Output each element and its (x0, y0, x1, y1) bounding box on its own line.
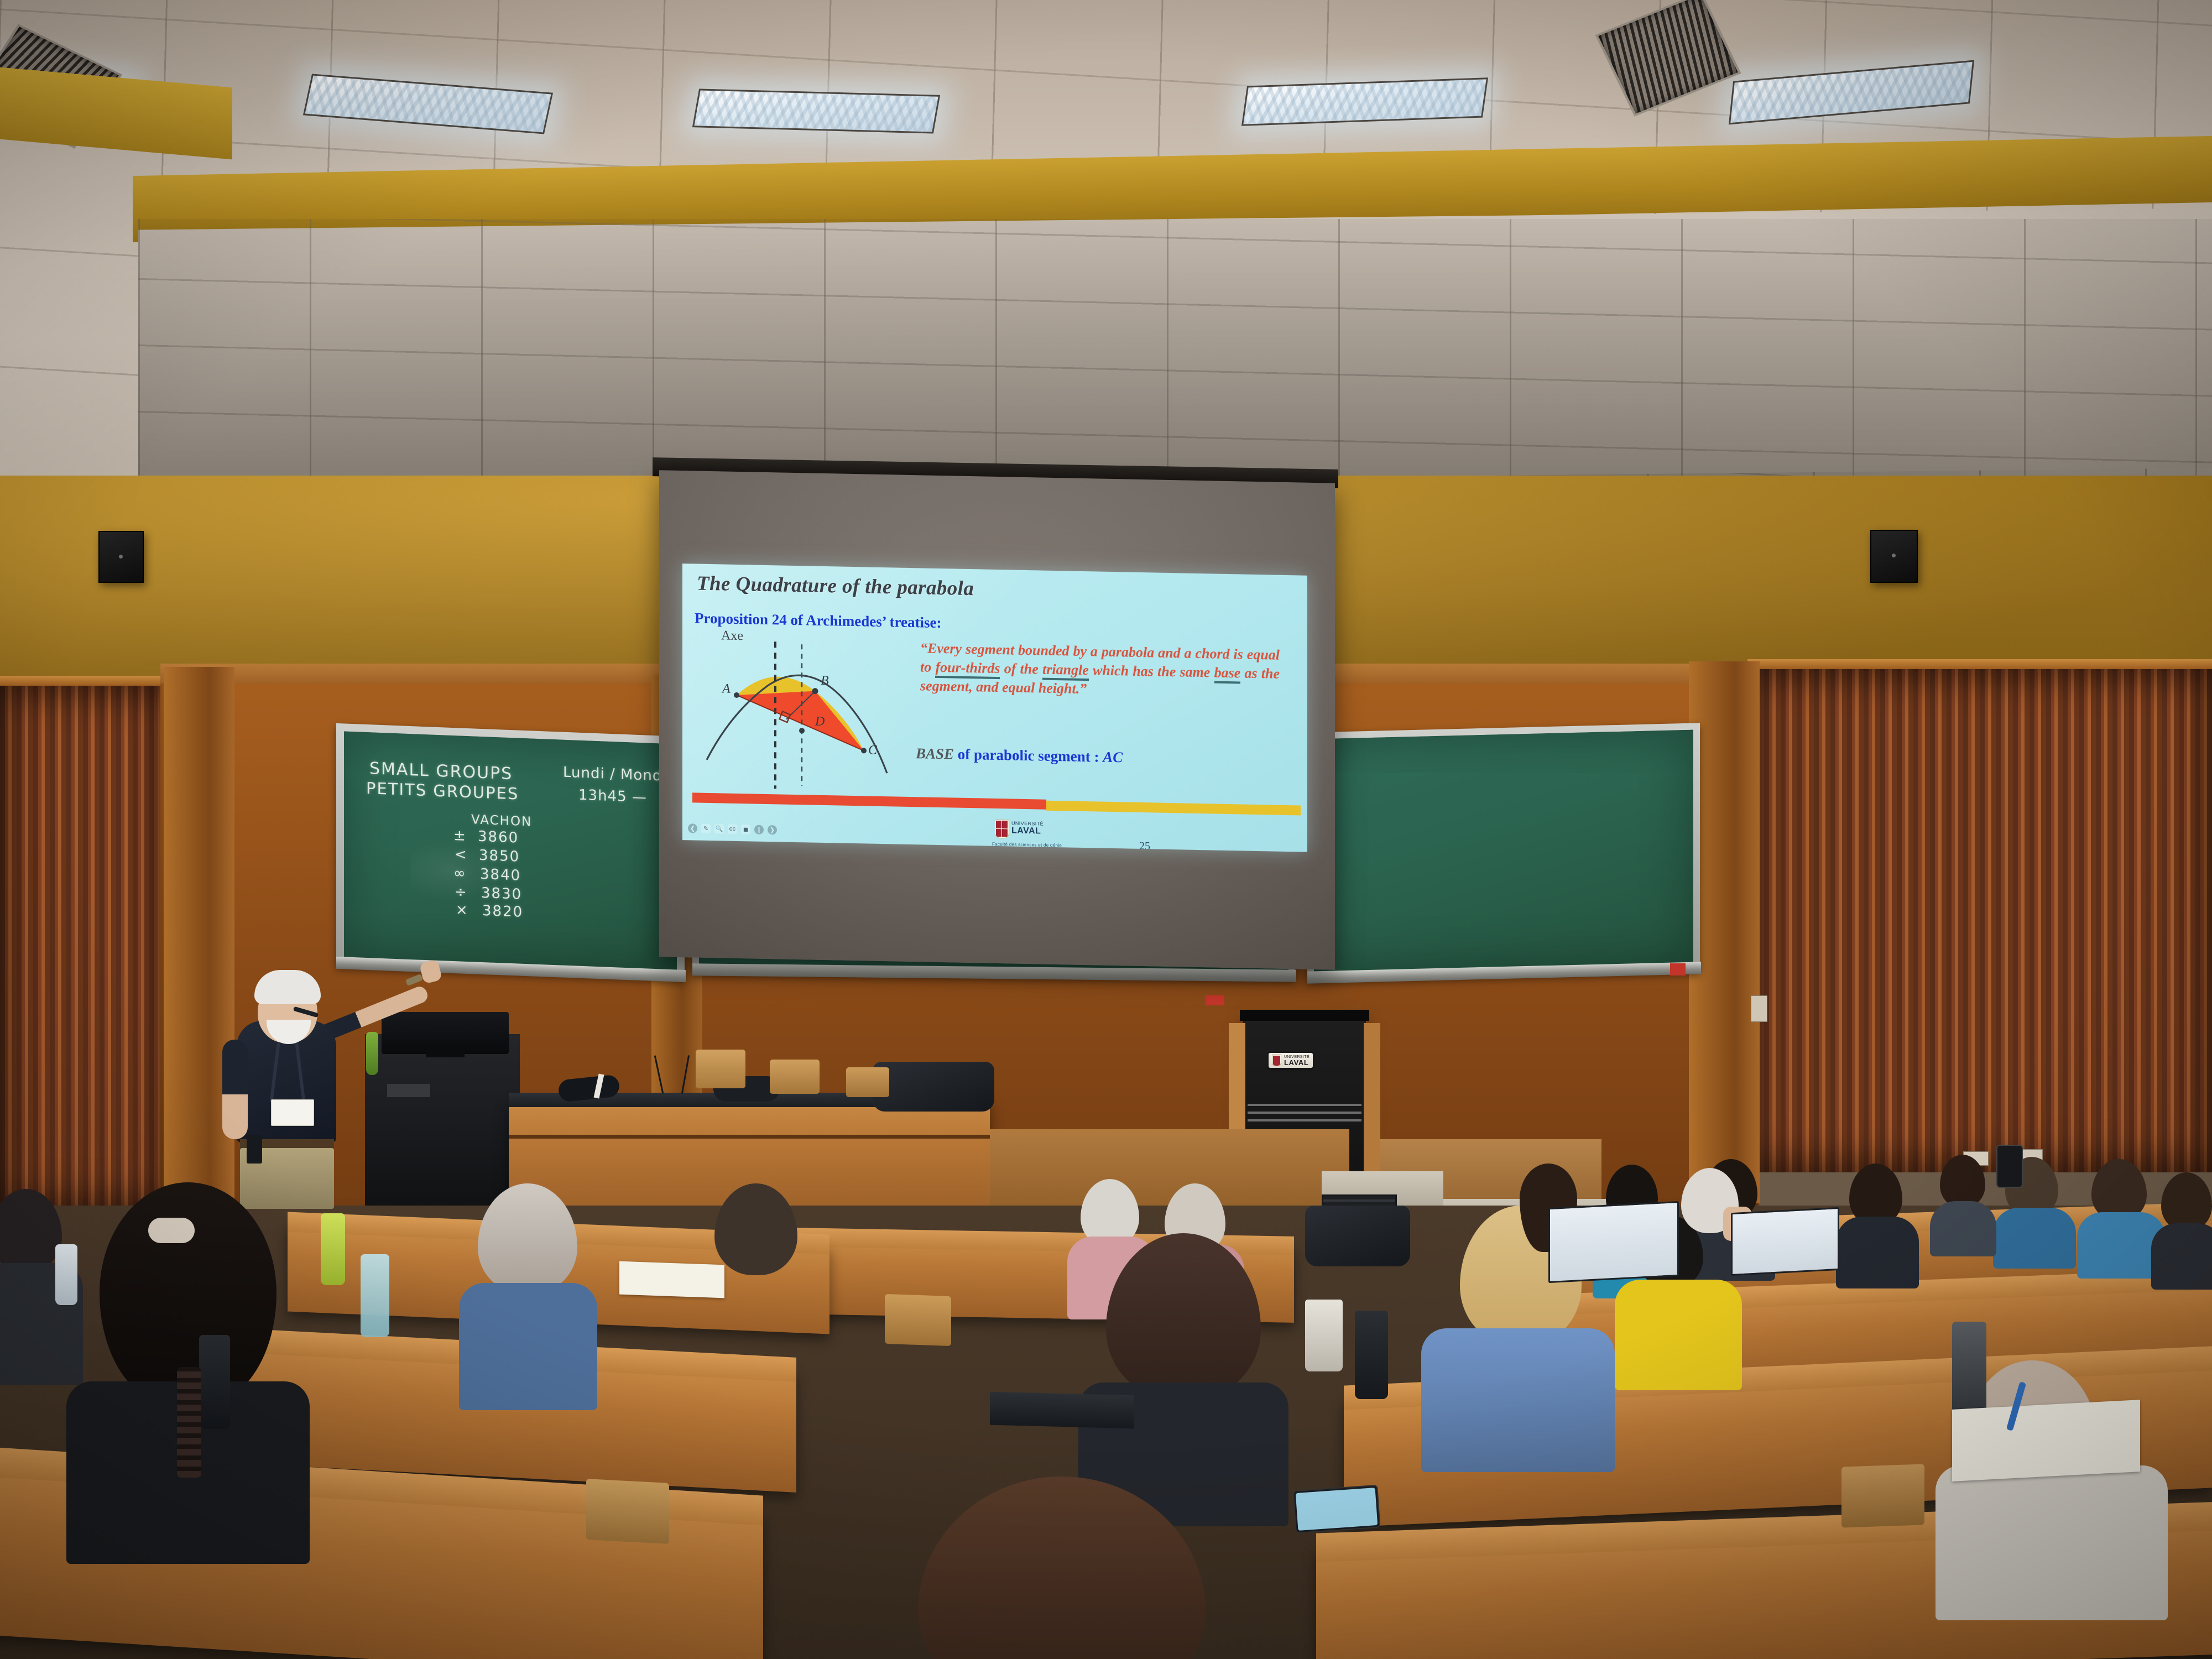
parabola-svg (698, 629, 919, 800)
projection-screen[interactable]: The Quadrature of the parabola Propositi… (659, 470, 1335, 969)
pause-icon[interactable]: ❙ (754, 825, 764, 834)
pdf-toolbar[interactable]: ❮ ✎ 🔍 CC ◼ ❙ ❯ (688, 823, 777, 834)
person-body (1930, 1201, 1996, 1256)
person-body (459, 1283, 597, 1410)
universite-laval-logo: UNIVERSITÉ LAVAL (995, 820, 1024, 843)
lectern-trim (1248, 1112, 1361, 1114)
blackboard-row-symbol: ∞ (453, 865, 467, 882)
person-body (2151, 1223, 2212, 1290)
quote-underline-four-thirds: four-thirds (935, 659, 1000, 679)
av-monitor-stand (426, 1050, 465, 1057)
front-ceiling-shade (138, 219, 2212, 479)
person-head (0, 1189, 62, 1272)
blackboard-row-symbol: × (456, 901, 469, 919)
parabola-diagram: Axe (698, 629, 919, 800)
wall-speaker-right (1870, 530, 1918, 583)
book-stack[interactable] (990, 1392, 1134, 1429)
lectern-trim (1248, 1104, 1361, 1106)
board-emergency-marker (1670, 963, 1686, 975)
blackboard-row-symbol: ÷ (455, 884, 468, 901)
quote-part-3: which has the same (1089, 662, 1214, 680)
base-keyword: BASE (916, 745, 954, 762)
base-value: AC (1103, 749, 1123, 766)
plaque-line2: LAVAL (1284, 1059, 1310, 1066)
backpack[interactable] (1305, 1206, 1410, 1266)
water-bottle[interactable] (361, 1254, 389, 1337)
board-red-marker (1206, 995, 1224, 1005)
diagram-point-C: C (868, 743, 877, 758)
blackboard-time-line: 13h45 — (578, 787, 647, 806)
video-icon[interactable]: ◼ (741, 825, 750, 834)
chair-backrest[interactable] (1841, 1464, 1924, 1527)
diagram-point-D: D (815, 714, 825, 729)
blackboard-row-room: 3850 (479, 847, 520, 865)
audience-member-gray-hair (459, 1183, 597, 1383)
chair-backrest[interactable] (846, 1067, 889, 1097)
pen-icon[interactable]: ✎ (701, 824, 711, 833)
front-desk-edge (509, 1135, 990, 1139)
presenter-name-badge (271, 1099, 314, 1126)
audience-member (1930, 1155, 1996, 1243)
blackboard-row-room: 3830 (481, 885, 522, 903)
chalkboard-left[interactable]: SMALL GROUPS PETITS GROUPES VACHON ± 386… (344, 731, 677, 972)
water-bottle[interactable] (55, 1244, 77, 1305)
back-arrow-icon[interactable]: ❮ (688, 823, 697, 833)
magnifier-icon[interactable]: 🔍 (714, 824, 724, 833)
audience-member (1836, 1164, 1919, 1274)
travel-mug[interactable] (1305, 1300, 1343, 1371)
person-head (2161, 1172, 2212, 1231)
phone-camera-raised[interactable] (1996, 1145, 2023, 1188)
backpack-on-front-desk[interactable] (873, 1062, 994, 1112)
presenter-transmitter (247, 1135, 262, 1164)
slat-wall-cap-left (0, 676, 166, 686)
presenter-hair (254, 970, 321, 1004)
person-body (1836, 1217, 1919, 1288)
audience-member-foreground-near (896, 1477, 1228, 1659)
water-bottle[interactable] (1355, 1311, 1388, 1399)
diagram-point-A: A (722, 681, 731, 696)
diagram-axis-label: Axe (721, 628, 743, 644)
water-bottle[interactable] (1952, 1322, 1986, 1416)
audience-member-foreground (1078, 1233, 1288, 1493)
acoustic-slat-wall-right (1747, 664, 2212, 1172)
slat-wall-cap-right (1747, 659, 2212, 669)
laval-wordmark: UNIVERSITÉ LAVAL (1011, 821, 1044, 836)
base-rest: of parabolic segment : (954, 746, 1103, 765)
lecture-hall-photo: SMALL GROUPS PETITS GROUPES VACHON ± 386… (0, 0, 2212, 1659)
bottle-strap (177, 1367, 201, 1478)
quote-underline-triangle: triangle (1042, 661, 1089, 681)
smartphone[interactable] (1292, 1485, 1380, 1534)
wall-speaker-left (98, 531, 144, 583)
laptop[interactable] (1731, 1207, 1839, 1276)
person-head (1940, 1155, 1985, 1208)
blackboard-row-symbol: ± (453, 827, 467, 844)
blackboard-building: VACHON (471, 812, 532, 829)
chair-backrest[interactable] (586, 1479, 669, 1544)
lectern-plaque: UNIVERSITÉ LAVAL (1269, 1053, 1313, 1068)
lectern-top (1240, 1010, 1369, 1021)
hair-tie (148, 1218, 195, 1243)
closed-caption-icon[interactable]: CC (728, 825, 737, 834)
acoustic-slat-wall-left (0, 680, 166, 1211)
person-body (1936, 1465, 2168, 1620)
chair-backrest[interactable] (885, 1294, 951, 1346)
water-bottle[interactable] (199, 1335, 230, 1429)
chair-backrest[interactable] (770, 1060, 820, 1094)
notebook[interactable] (619, 1261, 724, 1298)
lectern-wordmark: UNIVERSITÉ LAVAL (1284, 1055, 1310, 1066)
blackboard-row-room: 3840 (480, 866, 521, 884)
blackboard-row-room: 3820 (482, 902, 523, 921)
person-head (478, 1183, 577, 1294)
audience-member (2151, 1172, 2212, 1272)
notebook[interactable] (1952, 1400, 2140, 1481)
laval-crest-icon (995, 820, 1009, 838)
presenter-arm-left (222, 1040, 248, 1139)
projected-slide: The Quadrature of the parabola Propositi… (682, 564, 1307, 852)
person-head (1106, 1233, 1261, 1399)
audience-member-dark-hair (66, 1182, 310, 1536)
slide-quote: “Every segment bounded by a parabola and… (920, 639, 1280, 702)
person-body (1993, 1208, 2076, 1269)
blackboard-row-room: 3860 (478, 828, 519, 847)
person-body (1421, 1328, 1615, 1472)
wall-outlet-plate[interactable] (1751, 995, 1767, 1022)
person-head (918, 1477, 1206, 1659)
laval-line2: LAVAL (1011, 826, 1044, 836)
person-head (714, 1183, 797, 1275)
chalkboard-right[interactable] (1314, 730, 1693, 974)
laval-crest-icon (1272, 1055, 1281, 1066)
chair-backrest[interactable] (696, 1050, 745, 1088)
presenter (216, 973, 398, 1206)
quote-underline-base: base (1214, 665, 1241, 684)
laptop[interactable] (1548, 1201, 1679, 1283)
water-bottle[interactable] (321, 1213, 345, 1285)
blackboard-day-line: Lundi / Mond (563, 764, 662, 785)
av-monitor[interactable] (382, 1012, 509, 1054)
lectern-trim (1248, 1119, 1361, 1121)
forward-arrow-icon[interactable]: ❯ (768, 825, 777, 834)
diagram-point-B: B (821, 674, 829, 688)
quote-part-2: of the (1000, 660, 1042, 677)
blackboard-row-symbol: < (455, 846, 468, 863)
